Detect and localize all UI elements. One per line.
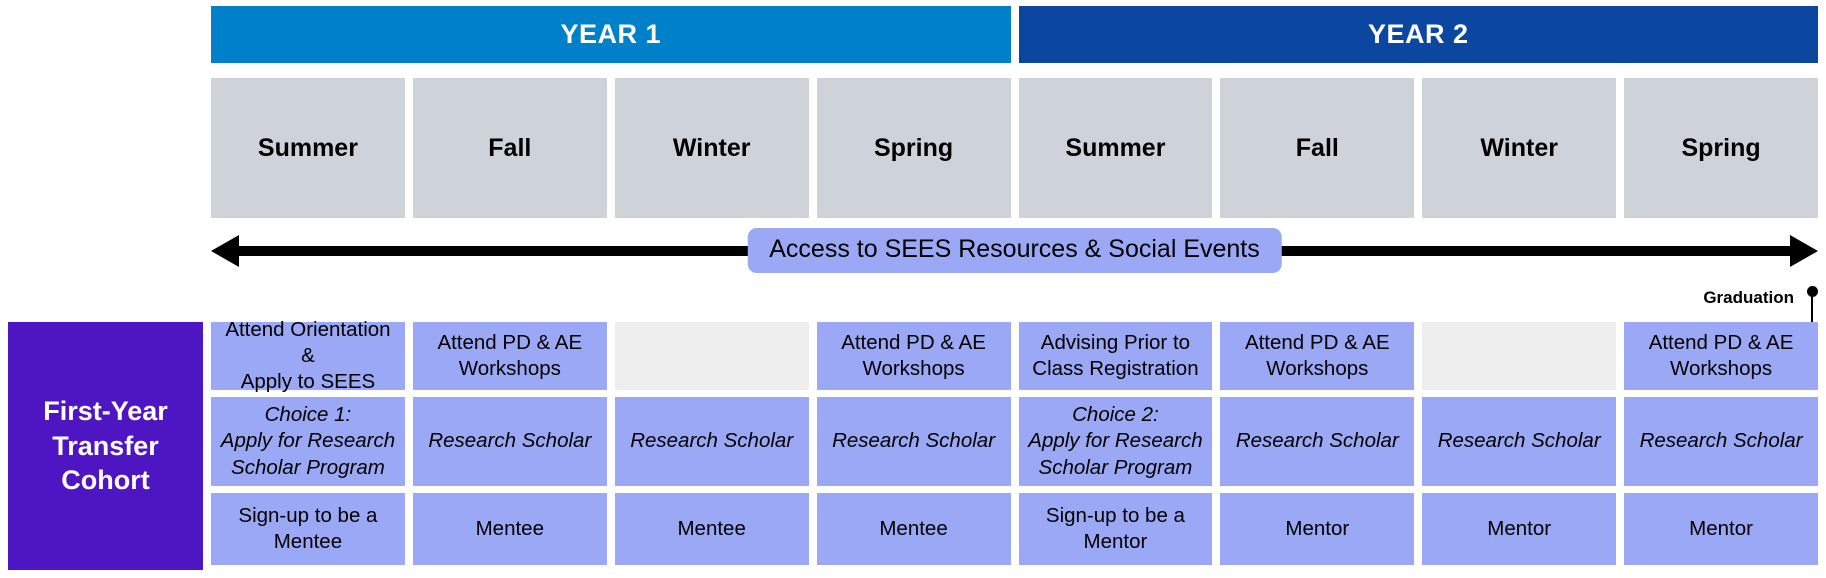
activity-cell: Mentee — [615, 493, 809, 565]
season-header-cell: Fall — [1220, 78, 1414, 218]
activity-cell: Choice 1:Apply for ResearchScholar Progr… — [211, 397, 405, 486]
activity-cell: Attend Orientation &Apply to SEES — [211, 322, 405, 390]
mentorship-row: Sign-up to be aMenteeMenteeMenteeMenteeS… — [211, 493, 1818, 565]
season-header-cell: Spring — [1624, 78, 1818, 218]
activity-cell-empty — [1422, 322, 1616, 390]
activity-cell: Mentee — [817, 493, 1011, 565]
activity-cell: Sign-up to be aMentee — [211, 493, 405, 565]
sees-pathway-roadmap: YEAR 1YEAR 2 SummerFallWinterSpringSumme… — [0, 0, 1826, 578]
activity-cell: Research Scholar — [1624, 397, 1818, 486]
season-header-cell: Winter — [1422, 78, 1616, 218]
cohort-label: First-YearTransferCohort — [8, 322, 203, 570]
activity-cell-empty — [615, 322, 809, 390]
research-scholar-row: Choice 1:Apply for ResearchScholar Progr… — [211, 397, 1818, 486]
activity-cell: Research Scholar — [615, 397, 809, 486]
activity-cell: Research Scholar — [1422, 397, 1616, 486]
activity-cell: Mentor — [1422, 493, 1616, 565]
activity-cell: Research Scholar — [413, 397, 607, 486]
activity-cell: Advising Prior toClass Registration — [1019, 322, 1213, 390]
arrow-left-icon — [211, 235, 239, 267]
access-band-label: Access to SEES Resources & Social Events — [747, 228, 1282, 273]
graduation-label: Graduation — [1703, 288, 1794, 308]
activity-cell: Research Scholar — [817, 397, 1011, 486]
season-header-cell: Summer — [211, 78, 405, 218]
season-header-cell: Summer — [1019, 78, 1213, 218]
activity-cell: Mentor — [1220, 493, 1414, 565]
activity-cell: Research Scholar — [1220, 397, 1414, 486]
arrow-right-icon — [1790, 235, 1818, 267]
access-arrow-band: Access to SEES Resources & Social Events — [211, 228, 1818, 274]
activity-cell: Mentee — [413, 493, 607, 565]
activity-grid: Attend Orientation &Apply to SEESAttend … — [211, 322, 1818, 565]
activity-cell: Attend PD & AEWorkshops — [413, 322, 607, 390]
pin-marker-icon — [1806, 286, 1818, 326]
activity-cell: Attend PD & AEWorkshops — [817, 322, 1011, 390]
activity-cell: Mentor — [1624, 493, 1818, 565]
activity-cell: Choice 2:Apply for ResearchScholar Progr… — [1019, 397, 1213, 486]
year-header-cell: YEAR 1 — [211, 6, 1011, 63]
season-header-cell: Spring — [817, 78, 1011, 218]
year-header-row: YEAR 1YEAR 2 — [211, 6, 1818, 63]
year-header-cell: YEAR 2 — [1019, 6, 1819, 63]
activity-cell: Attend PD & AEWorkshops — [1624, 322, 1818, 390]
season-header-row: SummerFallWinterSpringSummerFallWinterSp… — [211, 78, 1818, 218]
season-header-cell: Winter — [615, 78, 809, 218]
programming-row: Attend Orientation &Apply to SEESAttend … — [211, 322, 1818, 390]
activity-cell: Sign-up to be aMentor — [1019, 493, 1213, 565]
season-header-cell: Fall — [413, 78, 607, 218]
activity-cell: Attend PD & AEWorkshops — [1220, 322, 1414, 390]
